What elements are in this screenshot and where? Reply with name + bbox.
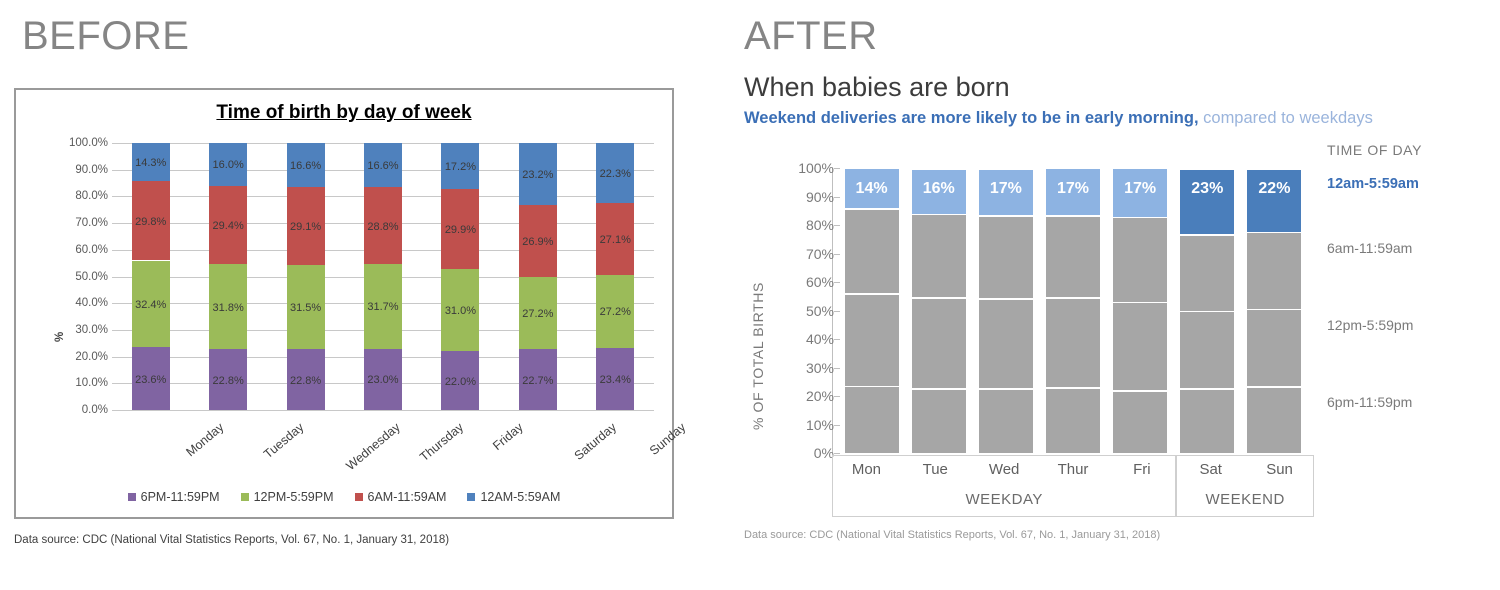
after-legend-header: TIME OF DAY xyxy=(1327,142,1422,158)
legend-swatch-icon xyxy=(128,493,136,501)
after-legend-label[interactable]: 6am-11:59am xyxy=(1327,240,1412,256)
after-data-label: 17% xyxy=(1113,180,1167,198)
after-data-label: 17% xyxy=(1046,180,1100,198)
before-legend-label: 6PM-11:59PM xyxy=(141,490,220,504)
after-y-tickmark xyxy=(834,453,840,454)
legend-swatch-icon xyxy=(355,493,363,501)
after-y-tick-label: 60% xyxy=(778,274,834,290)
after-bar: 14% xyxy=(845,168,899,453)
before-legend-label: 12PM-5:59PM xyxy=(254,490,334,504)
after-y-tickmark xyxy=(834,197,840,198)
after-bar-segment xyxy=(912,215,966,297)
after-bar-segment xyxy=(1046,299,1100,388)
after-y-tickmark xyxy=(834,254,840,255)
after-group-label: WEEKDAY xyxy=(832,485,1176,515)
before-data-label: 31.7% xyxy=(359,301,407,313)
after-bar-segment xyxy=(979,300,1033,388)
after-bar-segment xyxy=(1113,303,1167,390)
before-y-tick-label: 0.0% xyxy=(38,404,108,416)
before-legend-item[interactable]: 6AM-11:59AM xyxy=(355,490,447,504)
after-chart-title: When babies are born xyxy=(744,74,1010,101)
before-bar: 22.8%31.5%29.1%16.6% xyxy=(287,143,325,410)
after-legend-label[interactable]: 12pm-5:59pm xyxy=(1327,317,1413,333)
after-y-tick-label: 50% xyxy=(778,303,834,319)
after-bar-segment xyxy=(1180,312,1234,388)
before-data-label: 16.6% xyxy=(282,160,330,172)
after-y-tickmark xyxy=(834,225,840,226)
after-subtitle-emphasis: Weekend deliveries are more likely to be… xyxy=(744,109,1199,127)
after-y-tickmark xyxy=(834,425,840,426)
before-data-label: 17.2% xyxy=(436,161,484,173)
after-data-label: 14% xyxy=(845,180,899,198)
before-x-tick-label: Monday xyxy=(183,420,226,459)
legend-swatch-icon xyxy=(241,493,249,501)
before-legend-item[interactable]: 12PM-5:59PM xyxy=(241,490,334,504)
before-gridline xyxy=(112,410,654,411)
after-bar-segment xyxy=(1247,310,1301,386)
after-bar: 23% xyxy=(1180,168,1234,453)
before-legend-label: 12AM-5:59AM xyxy=(480,490,560,504)
before-y-tick-label: 20.0% xyxy=(38,351,108,363)
before-y-tick-label: 10.0% xyxy=(38,377,108,389)
after-bar: 17% xyxy=(1046,168,1100,453)
before-data-label: 22.8% xyxy=(204,375,252,387)
before-y-tick-label: 100.0% xyxy=(38,137,108,149)
before-source-note: Data source: CDC (National Vital Statist… xyxy=(14,534,449,546)
after-y-tick-label: 0% xyxy=(778,445,834,461)
before-data-label: 23.0% xyxy=(359,374,407,386)
before-y-tick-label: 60.0% xyxy=(38,244,108,256)
after-y-tick-label: 70% xyxy=(778,246,834,262)
after-y-tickmark xyxy=(834,396,840,397)
before-data-label: 26.9% xyxy=(514,236,562,248)
before-data-label: 29.9% xyxy=(436,224,484,236)
before-data-label: 31.8% xyxy=(204,302,252,314)
after-y-tick-label: 80% xyxy=(778,217,834,233)
before-data-label: 31.5% xyxy=(282,302,330,314)
before-data-label: 27.2% xyxy=(591,306,639,318)
before-x-tick-label: Friday xyxy=(491,420,527,453)
after-y-tick-label: 40% xyxy=(778,331,834,347)
after-group-label: WEEKEND xyxy=(1176,485,1314,515)
before-data-label: 29.4% xyxy=(204,220,252,232)
after-y-axis-title: % OF TOTAL BIRTHS xyxy=(750,282,766,430)
before-x-tick-label: Thursday xyxy=(417,420,466,464)
after-y-tickmark xyxy=(834,168,840,169)
before-data-label: 31.0% xyxy=(436,305,484,317)
before-data-label: 16.6% xyxy=(359,160,407,172)
after-y-tickmark xyxy=(834,368,840,369)
after-heading: AFTER xyxy=(744,16,878,56)
before-data-label: 28.8% xyxy=(359,221,407,233)
after-bar-segment xyxy=(912,299,966,388)
after-data-label: 22% xyxy=(1247,180,1301,198)
before-legend-item[interactable]: 6PM-11:59PM xyxy=(128,490,220,504)
after-plot-area: 0%10%20%30%40%50%60%70%80%90%100%14%16%1… xyxy=(838,168,1308,453)
after-bar: 17% xyxy=(1113,168,1167,453)
before-x-tick-label: Sunday xyxy=(647,420,688,458)
after-bar-segment-early-morning xyxy=(1247,170,1301,232)
before-data-label: 22.0% xyxy=(436,376,484,388)
before-panel: BEFORE Time of birth by day of week % 0.… xyxy=(0,0,730,590)
before-data-label: 32.4% xyxy=(127,299,175,311)
before-data-label: 23.2% xyxy=(514,169,562,181)
after-bar-segment xyxy=(1247,233,1301,309)
before-data-label: 22.3% xyxy=(591,168,639,180)
after-legend: TIME OF DAY 12am-5:59am6am-11:59am12pm-5… xyxy=(1327,0,1500,590)
before-data-label: 23.4% xyxy=(591,374,639,386)
after-y-tickmark xyxy=(834,282,840,283)
after-bar-segment xyxy=(912,390,966,453)
after-category-table: MonTueWedThurFriSatSunWEEKDAYWEEKEND xyxy=(832,455,1314,517)
legend-swatch-icon xyxy=(467,493,475,501)
after-source-note: Data source: CDC (National Vital Statist… xyxy=(744,529,1160,541)
before-bar: 22.0%31.0%29.9%17.2% xyxy=(441,143,479,410)
before-bar: 23.6%32.4%29.8%14.3% xyxy=(132,143,170,410)
after-data-label: 23% xyxy=(1180,180,1234,198)
after-bar-segment xyxy=(1113,218,1167,302)
before-data-label: 22.8% xyxy=(282,375,330,387)
before-y-tick-label: 50.0% xyxy=(38,271,108,283)
after-bar-segment xyxy=(1046,217,1100,298)
before-legend-item[interactable]: 12AM-5:59AM xyxy=(467,490,560,504)
after-legend-label[interactable]: 6pm-11:59pm xyxy=(1327,394,1412,410)
after-bar: 17% xyxy=(979,168,1033,453)
after-y-tick-label: 90% xyxy=(778,189,834,205)
before-data-label: 27.1% xyxy=(591,234,639,246)
after-bar-segment xyxy=(1046,389,1100,453)
before-y-tick-label: 40.0% xyxy=(38,297,108,309)
after-y-tick-label: 10% xyxy=(778,417,834,433)
before-data-label: 14.3% xyxy=(127,157,175,169)
before-data-label: 22.7% xyxy=(514,375,562,387)
before-y-tick-label: 70.0% xyxy=(38,217,108,229)
after-data-label: 16% xyxy=(912,180,966,198)
after-bar: 16% xyxy=(912,168,966,453)
after-y-tickmark xyxy=(834,339,840,340)
after-bar-segment xyxy=(845,387,899,453)
before-x-tick-label: Wednesday xyxy=(343,420,402,473)
after-bar: 22% xyxy=(1247,168,1301,453)
before-legend-label: 6AM-11:59AM xyxy=(368,490,447,504)
before-data-label: 29.1% xyxy=(282,221,330,233)
before-y-tick-label: 80.0% xyxy=(38,190,108,202)
before-legend: 6PM-11:59PM12PM-5:59PM6AM-11:59AM12AM-5:… xyxy=(16,490,672,504)
before-y-tick-label: 90.0% xyxy=(38,164,108,176)
after-bar-segment xyxy=(1247,388,1301,453)
after-y-tick-label: 100% xyxy=(778,160,834,176)
after-y-tickmark xyxy=(834,311,840,312)
after-data-label: 17% xyxy=(979,180,1033,198)
before-plot-area: 0.0%10.0%20.0%30.0%40.0%50.0%60.0%70.0%8… xyxy=(112,143,654,410)
before-bar: 22.7%27.2%26.9%23.2% xyxy=(519,143,557,410)
before-chart-title: Time of birth by day of week xyxy=(16,102,672,124)
after-bar-segment xyxy=(845,210,899,293)
before-y-tick-label: 30.0% xyxy=(38,324,108,336)
after-bar-segment xyxy=(1180,236,1234,311)
before-x-tick-label: Saturday xyxy=(572,420,619,463)
after-legend-label[interactable]: 12am-5:59am xyxy=(1327,176,1419,192)
after-y-tick-label: 30% xyxy=(778,360,834,376)
before-bar: 23.0%31.7%28.8%16.6% xyxy=(364,143,402,410)
before-data-label: 27.2% xyxy=(514,308,562,320)
after-bar-segment xyxy=(845,295,899,386)
before-heading: BEFORE xyxy=(22,16,189,56)
before-x-tick-label: Tuesday xyxy=(261,420,306,461)
after-y-tick-label: 20% xyxy=(778,388,834,404)
after-bar-segment xyxy=(979,217,1033,298)
before-bar: 23.4%27.2%27.1%22.3% xyxy=(596,143,634,410)
after-bar-segment xyxy=(1113,392,1167,453)
before-bar: 22.8%31.8%29.4%16.0% xyxy=(209,143,247,410)
before-data-label: 23.6% xyxy=(127,374,175,386)
after-chart-subtitle: Weekend deliveries are more likely to be… xyxy=(744,110,1373,127)
after-bar-segment xyxy=(979,390,1033,453)
after-bar-segment xyxy=(1180,390,1234,453)
before-chart-frame: Time of birth by day of week % 0.0%10.0%… xyxy=(14,88,674,519)
before-data-label: 16.0% xyxy=(204,159,252,171)
before-data-label: 29.8% xyxy=(127,216,175,228)
